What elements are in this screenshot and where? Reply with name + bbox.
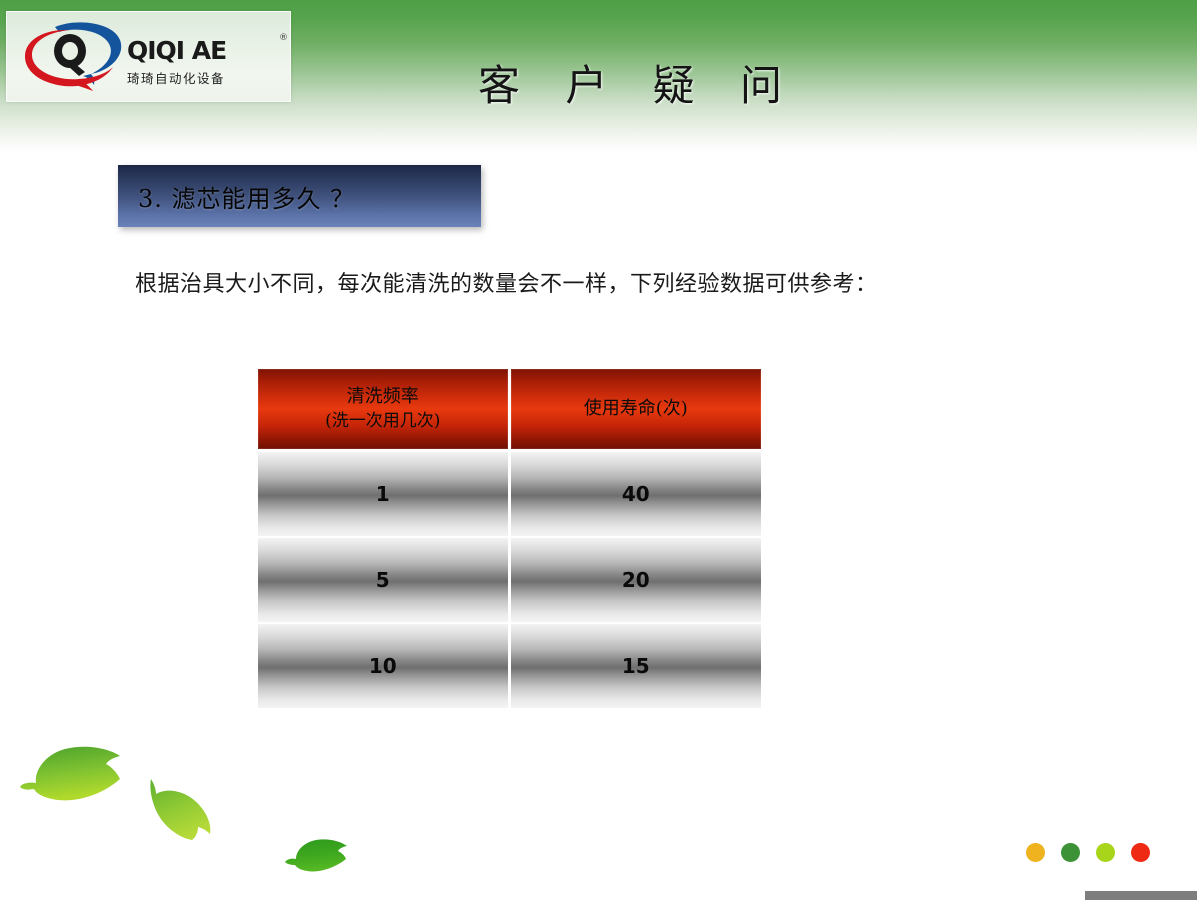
question-banner: 3. 滤芯能用多久 ？ <box>118 165 481 227</box>
dot-amber-icon <box>1026 843 1045 862</box>
leaf-large-icon <box>16 738 132 812</box>
question-banner-label: 3. 滤芯能用多久 ？ <box>118 179 355 214</box>
lifetime-data-table: 清洗频率 (洗一次用几次) 使用寿命(次) 1 40 5 20 10 15 <box>258 369 761 707</box>
table-header-cell-frequency: 清洗频率 (洗一次用几次) <box>258 369 508 449</box>
table-header-frequency-line2: (洗一次用几次) <box>325 410 440 433</box>
registered-trademark-icon: ® <box>279 34 287 43</box>
table-row: 5 20 <box>258 538 761 622</box>
table-cell-frequency: 10 <box>258 624 508 708</box>
dot-red-icon <box>1131 843 1150 862</box>
table-cell-lifetime: 15 <box>511 624 762 708</box>
table-row: 10 15 <box>258 624 761 708</box>
table-row: 1 40 <box>258 452 761 536</box>
logo-wordmark-main: QIQI AE® <box>127 38 285 63</box>
color-dot-row <box>1026 843 1150 862</box>
table-header-lifetime-line1: 使用寿命(次) <box>584 397 688 422</box>
page-title: 客 户 疑 问 <box>420 52 840 113</box>
logo-wordmark-text: QIQI AE <box>127 36 226 65</box>
leaf-medium-icon <box>146 770 224 842</box>
table-header-row: 清洗频率 (洗一次用几次) 使用寿命(次) <box>258 369 761 449</box>
slide-canvas: QIQI AE® 琦琦自动化设备 客 户 疑 问 3. 滤芯能用多久 ？ 根据治… <box>0 0 1197 904</box>
company-logo-plate[interactable]: QIQI AE® 琦琦自动化设备 <box>6 11 291 102</box>
leaf-small-icon <box>283 838 350 875</box>
dot-green-icon <box>1061 843 1080 862</box>
table-header-cell-lifetime: 使用寿命(次) <box>511 369 762 449</box>
bottom-accent-bar <box>1085 891 1197 900</box>
table-cell-lifetime: 20 <box>511 538 762 622</box>
table-cell-lifetime: 40 <box>511 452 762 536</box>
qiqi-q-mark-icon <box>21 18 126 94</box>
logo-subtitle: 琦琦自动化设备 <box>127 68 285 87</box>
table-cell-frequency: 1 <box>258 452 508 536</box>
logo-wordmark: QIQI AE® 琦琦自动化设备 <box>127 38 285 96</box>
table-cell-frequency: 5 <box>258 538 508 622</box>
table-header-frequency-line1: 清洗频率 <box>325 385 440 410</box>
dot-lime-icon <box>1096 843 1115 862</box>
body-paragraph: 根据治具大小不同，每次能清洗的数量会不一样，下列经验数据可供参考： <box>135 266 1065 298</box>
